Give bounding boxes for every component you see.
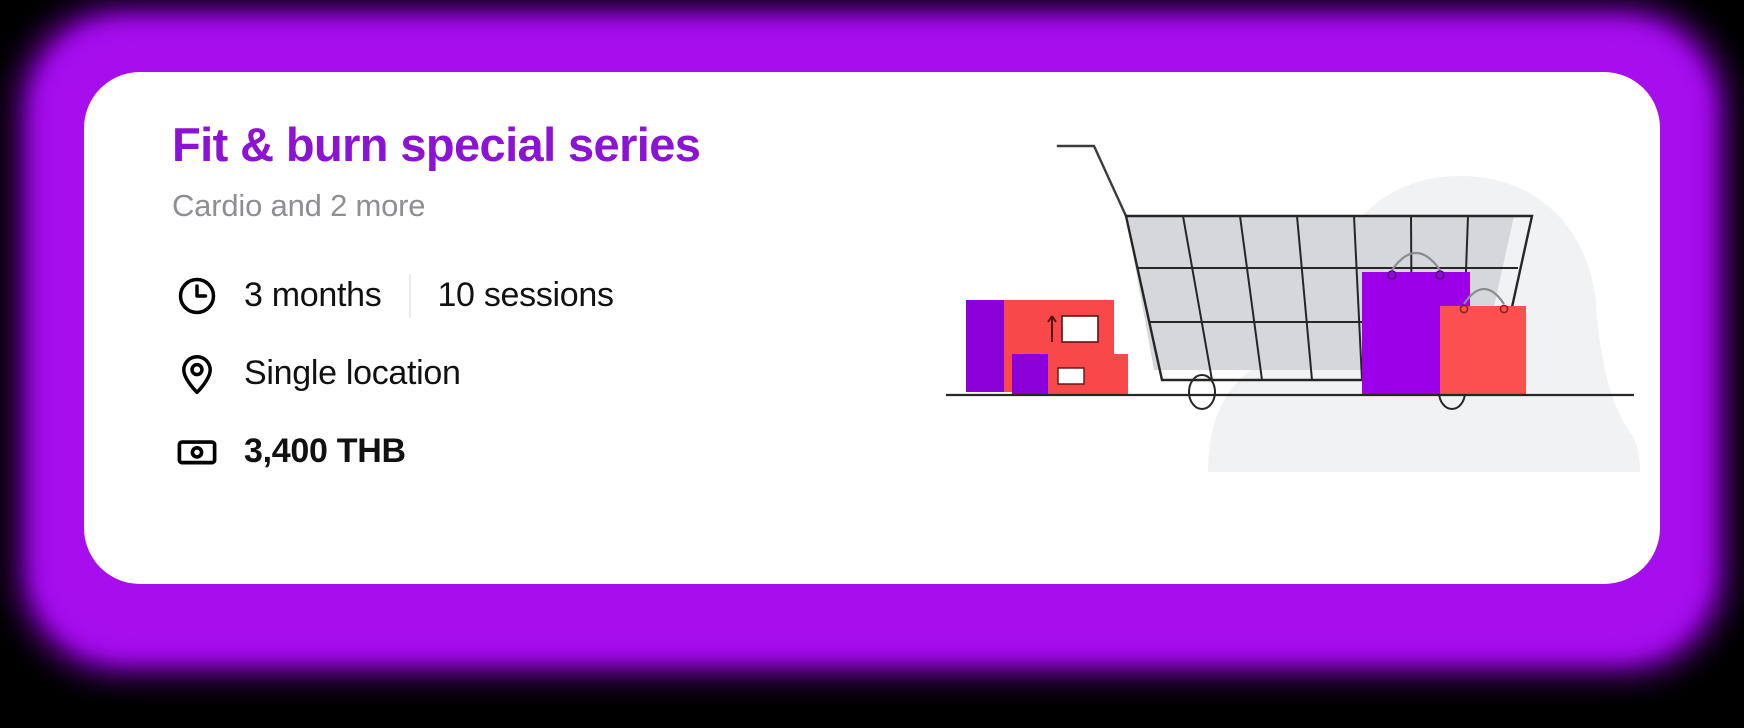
fact-duration-value: 3 months [244,276,381,315]
cart-handle [1058,146,1126,216]
fact-location-value: Single location [244,354,461,393]
fact-sessions-value: 10 sessions [437,276,613,315]
fact-divider [409,274,411,318]
cardboard-box-small [1012,354,1128,394]
banknote-icon [172,427,222,477]
package-details: Fit & burn special series Cardio and 2 m… [172,120,932,491]
fact-row-location: Single location [172,335,932,413]
package-subtitle: Cardio and 2 more [172,189,932,223]
location-pin-icon [172,349,222,399]
package-facts: 3 months 10 sessions Single location [172,257,932,491]
clock-icon [172,271,222,321]
fact-row-price: 3,400 THB [172,413,932,491]
package-title: Fit & burn special series [172,120,932,171]
shopping-cart-illustration [940,72,1640,584]
package-card[interactable]: Fit & burn special series Cardio and 2 m… [84,72,1660,584]
fact-price-value: 3,400 THB [244,432,406,471]
screen: Fit & burn special series Cardio and 2 m… [0,0,1744,728]
fact-row-duration: 3 months 10 sessions [172,257,932,335]
